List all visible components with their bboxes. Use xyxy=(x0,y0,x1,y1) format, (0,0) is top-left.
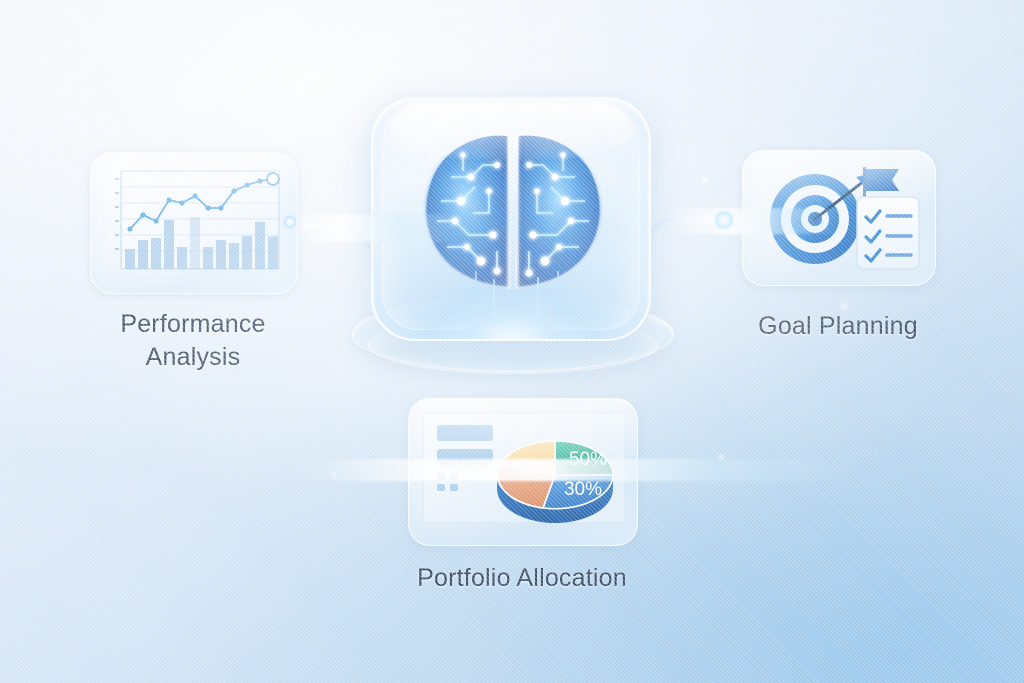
node-performance-analysis[interactable] xyxy=(90,152,298,294)
node-portfolio-allocation[interactable]: 50% 30% xyxy=(408,398,638,546)
checklist xyxy=(857,197,919,269)
pie-label-30: 30% xyxy=(564,479,602,500)
pie-label-50: 50% xyxy=(569,449,607,470)
sparkle-5 xyxy=(268,232,275,239)
connector-performance-to-core xyxy=(292,226,374,286)
diagram-canvas: Performance Analysis xyxy=(0,0,1024,683)
pie-chart-3d-icon: 50% 30% xyxy=(419,409,629,535)
line-bar-chart-icon xyxy=(103,167,285,279)
cube-highlight xyxy=(390,102,633,160)
sparkle-2 xyxy=(838,300,850,312)
node-portfolio-allocation-label: Portfolio Allocation xyxy=(362,562,682,595)
connector-node-right xyxy=(711,207,737,233)
cube-base-glow xyxy=(395,255,627,341)
target-flag-checklist-icon xyxy=(759,161,927,277)
sparkle-1 xyxy=(700,176,709,185)
sparkle-4 xyxy=(330,470,338,478)
node-goal-planning-label: Goal Planning xyxy=(718,310,958,343)
connector-node-left xyxy=(281,213,299,231)
sparkle-3 xyxy=(716,452,726,462)
glass-cube-container xyxy=(371,97,651,341)
node-performance-analysis-label: Performance Analysis xyxy=(63,308,323,374)
ai-core-node[interactable] xyxy=(371,97,651,341)
node-goal-planning[interactable] xyxy=(742,150,936,286)
